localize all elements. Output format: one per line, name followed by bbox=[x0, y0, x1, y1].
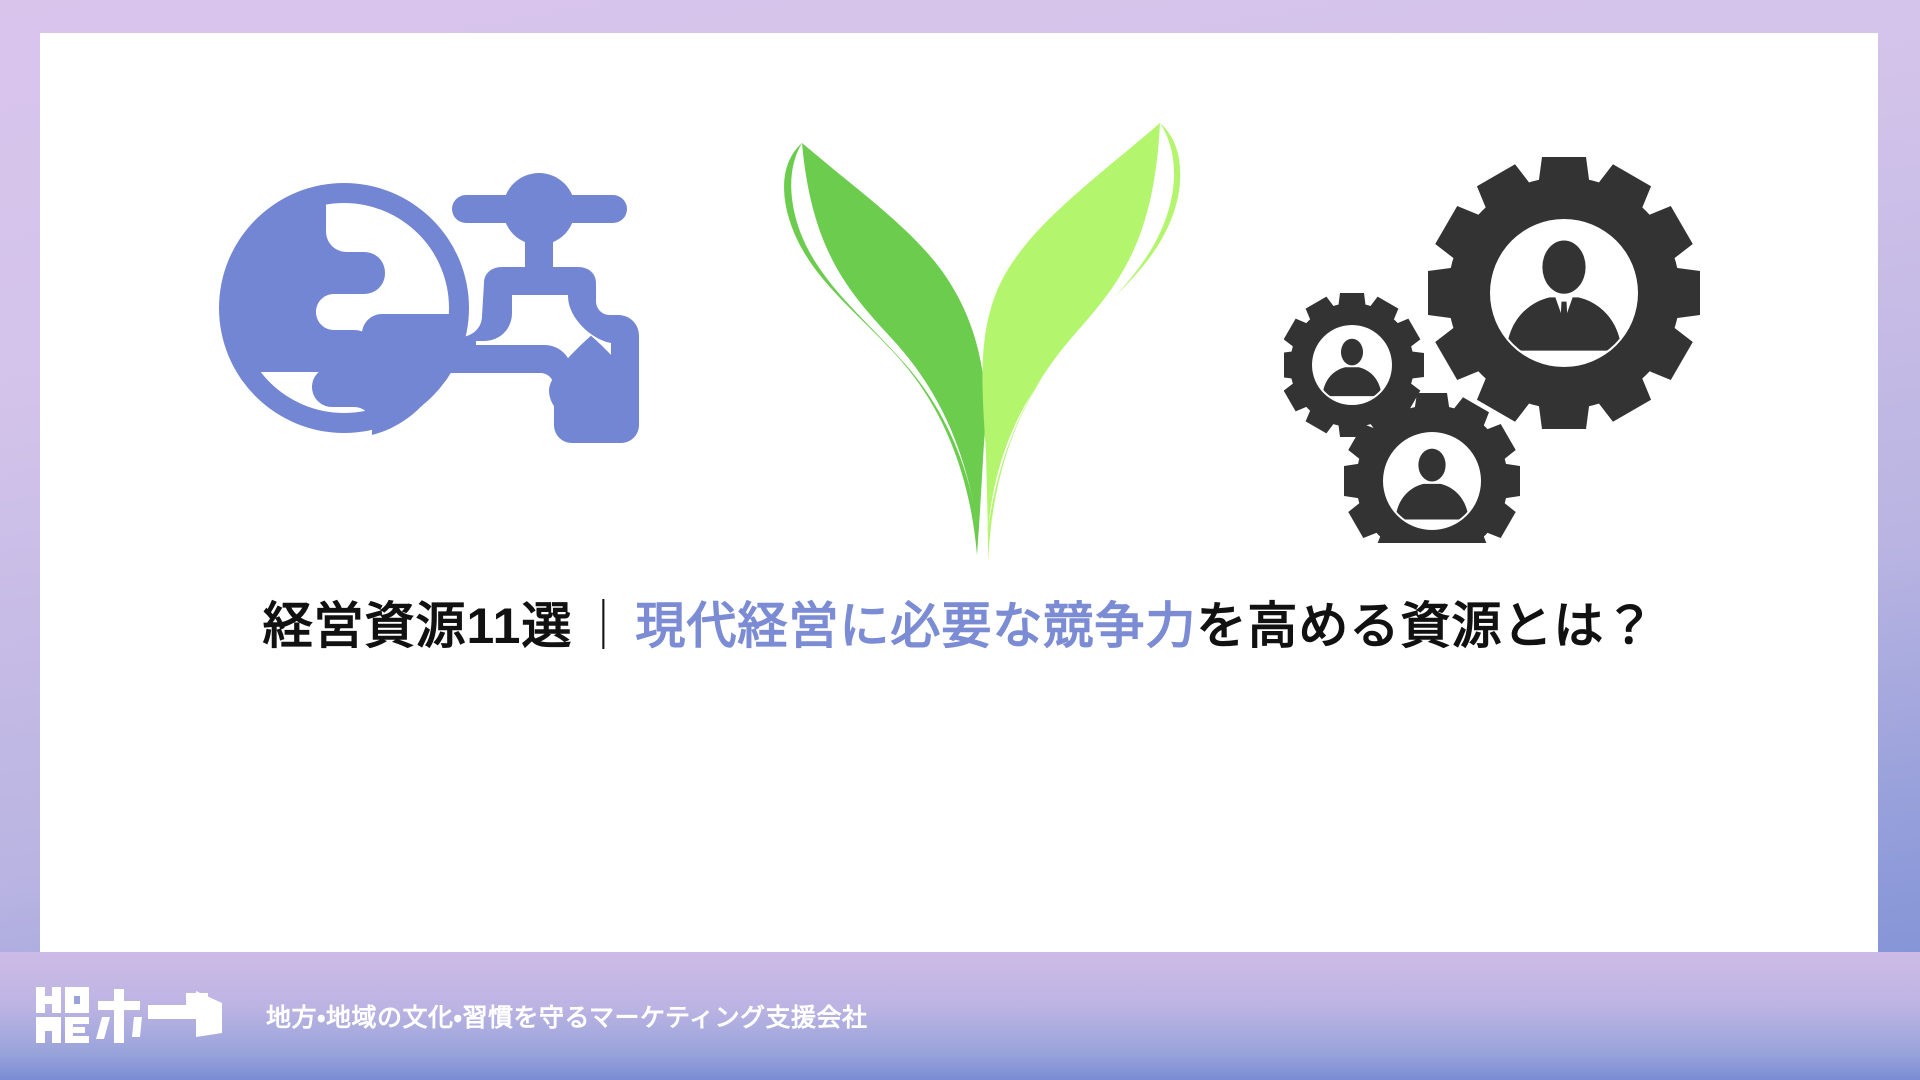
leaf-left bbox=[784, 143, 985, 555]
content-card: 経営資源11選｜現代経営に必要な競争力を高める資源とは？ bbox=[40, 33, 1878, 952]
footer-tagline: 地方・地域の文化・習慣を守るマーケティング支援会社 bbox=[266, 998, 868, 1034]
globe-faucet-water-icon-svg bbox=[214, 173, 684, 513]
page-title-wrap: 経営資源11選｜現代経営に必要な競争力を高める資源とは？ bbox=[40, 593, 1878, 661]
page-title: 経営資源11選｜現代経営に必要な競争力を高める資源とは？ bbox=[40, 593, 1878, 661]
hone-logo bbox=[36, 988, 236, 1044]
title-segment-2-highlight: 現代経営に必要な競争力 bbox=[635, 598, 1196, 654]
hone-logo-icon bbox=[36, 987, 236, 1045]
gears-people-icon-svg bbox=[1284, 143, 1704, 543]
icon-row bbox=[40, 123, 1878, 563]
gears-people-icon bbox=[1284, 143, 1704, 543]
footer-band: 地方・地域の文化・習慣を守るマーケティング支援会社 bbox=[0, 952, 1920, 1080]
globe-faucet-water-icon bbox=[214, 173, 684, 513]
eyecatch-canvas: 経営資源11選｜現代経営に必要な競争力を高める資源とは？ bbox=[0, 0, 1920, 1080]
gear-large-person bbox=[1428, 157, 1700, 429]
two-leaves-icon bbox=[764, 123, 1204, 563]
leaf-right bbox=[982, 123, 1180, 563]
title-separator: ｜ bbox=[572, 598, 635, 654]
two-leaves-icon-svg bbox=[764, 123, 1204, 563]
title-segment-1: 経営資源11選 bbox=[263, 598, 573, 654]
title-segment-3: を高める資源とは？ bbox=[1196, 598, 1655, 654]
